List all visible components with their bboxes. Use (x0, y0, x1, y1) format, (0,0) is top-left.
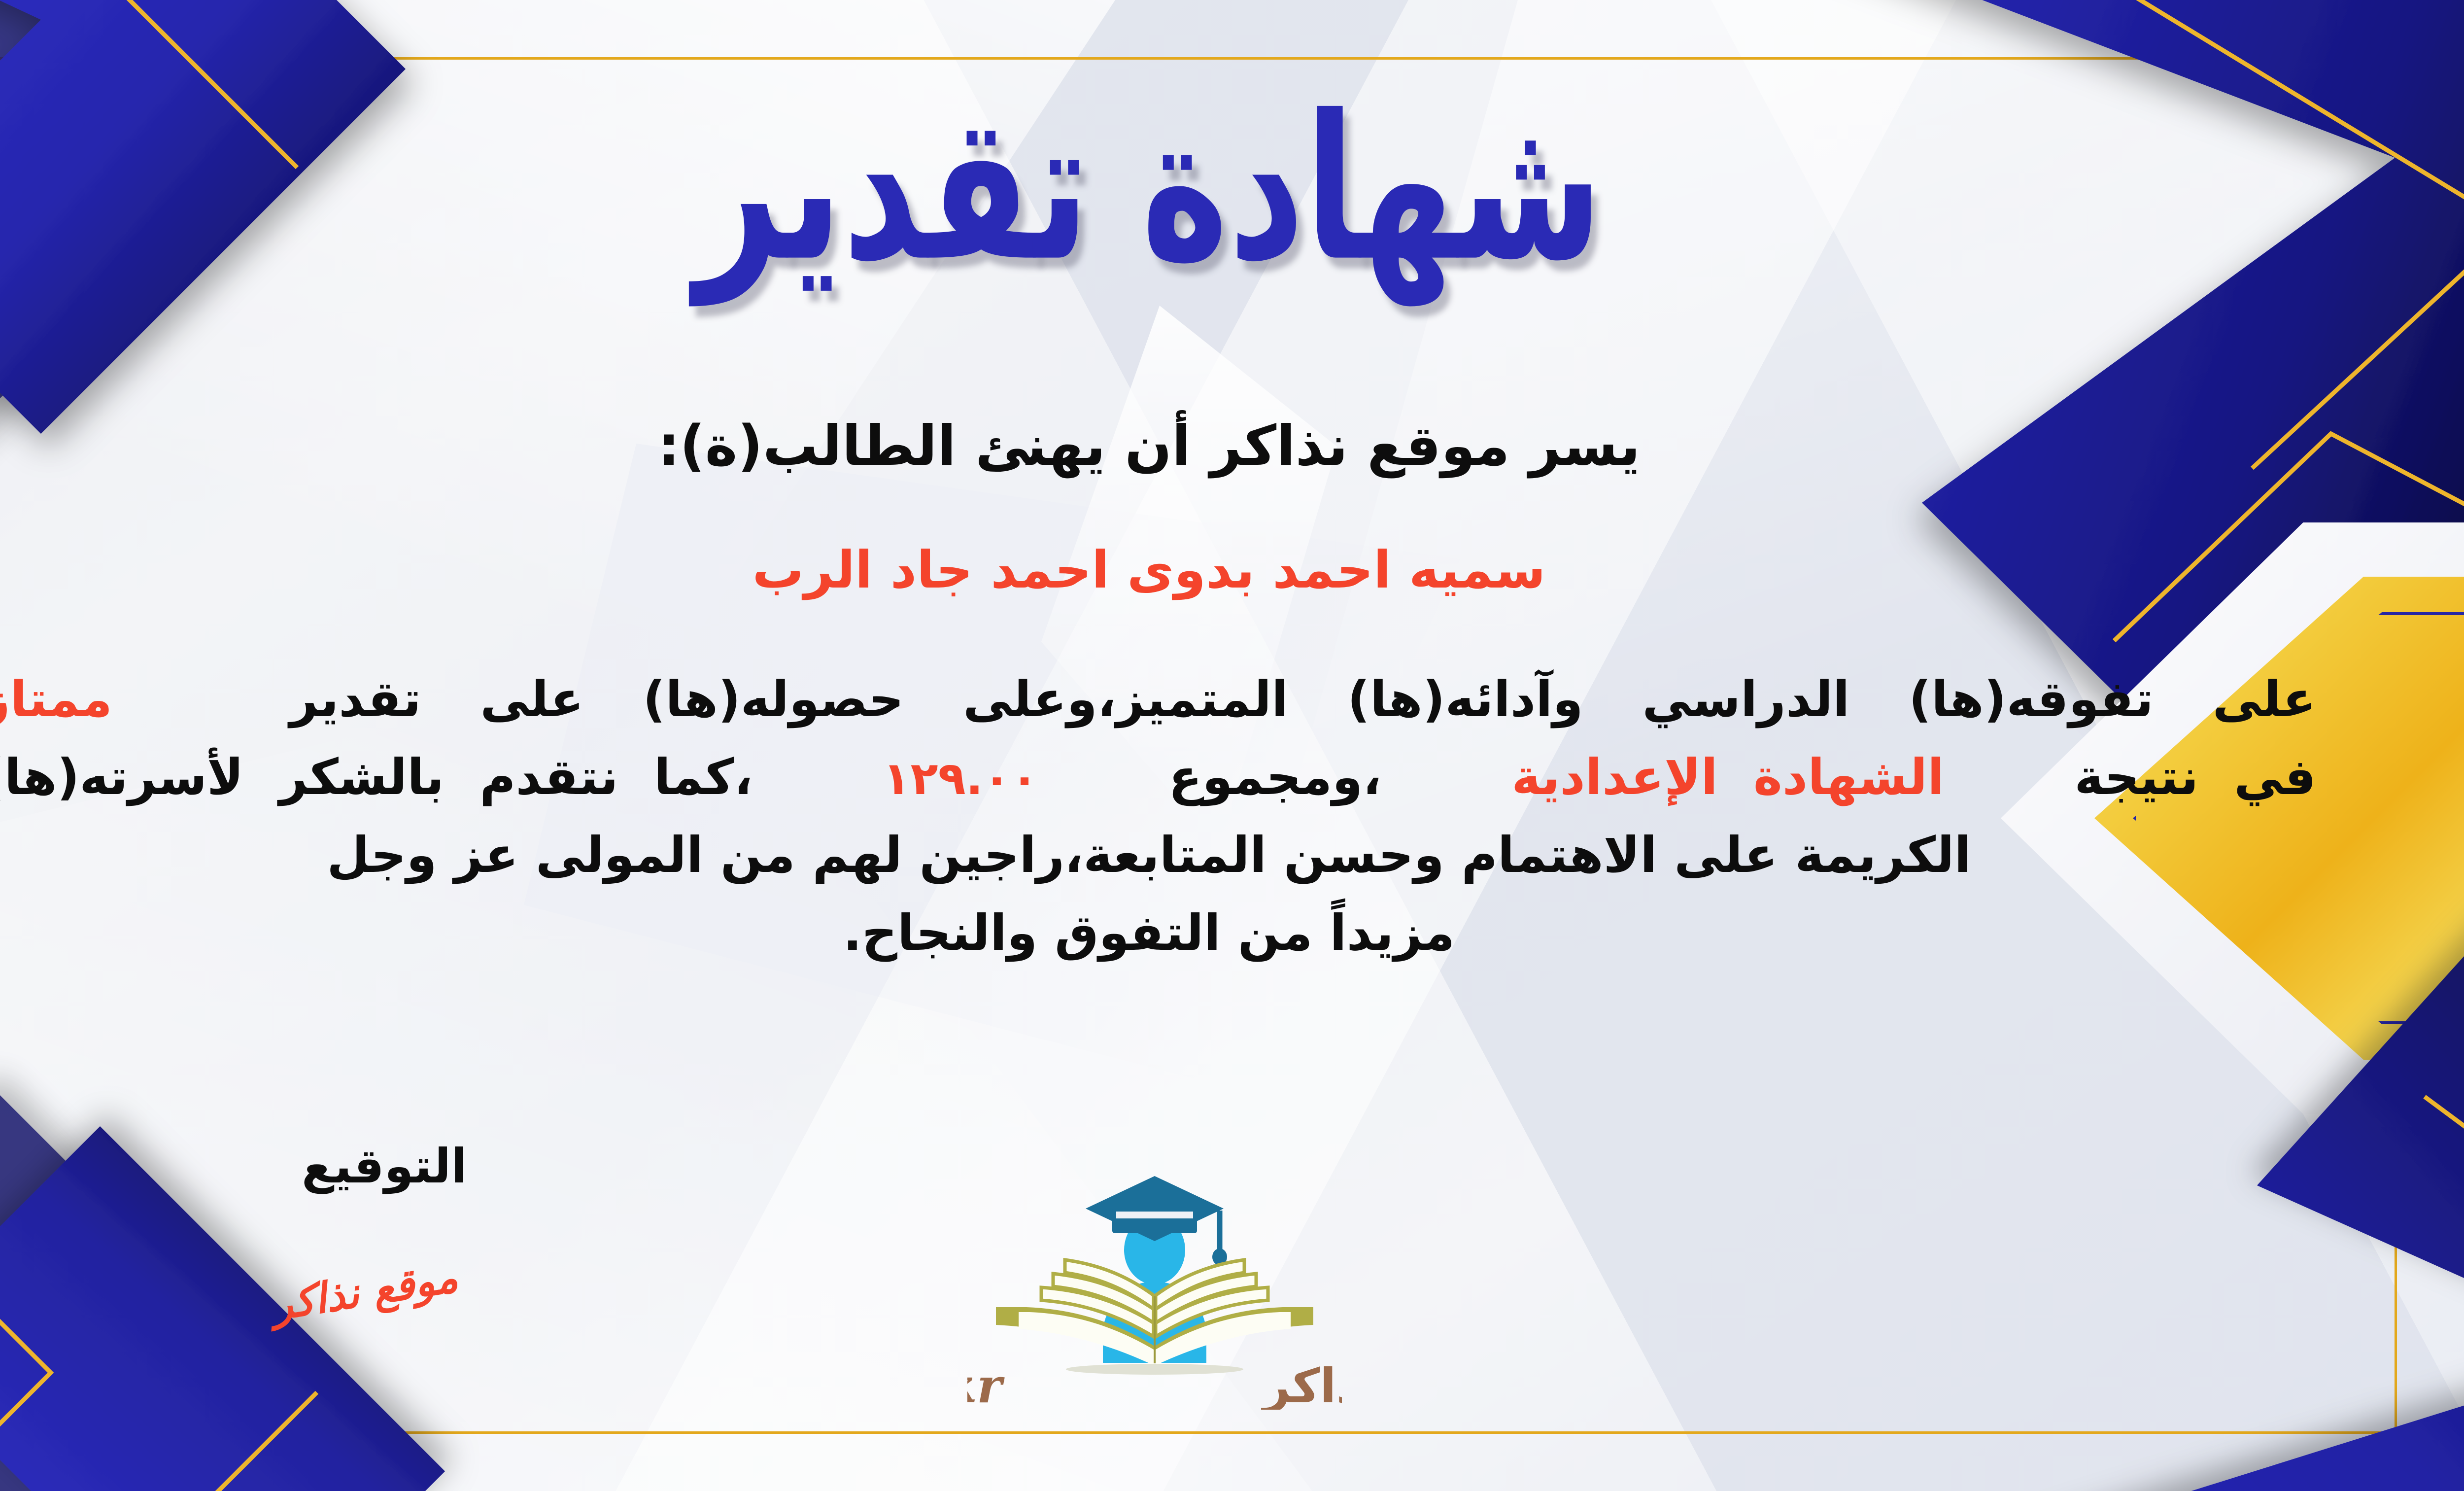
page-title: شهادة تقدير (0, 74, 2464, 304)
signature-mark: موقع نذاكر (225, 1246, 505, 1337)
body-line-1: على تفوقه(ها) الدراسي وآدائه(ها) المتميز… (0, 660, 2316, 738)
logo-arabic-text: نذاكر (1261, 1358, 1342, 1410)
logo-latin-text: Nezakr (967, 1358, 1005, 1410)
body-line-2-middle: ،ومجموع (1168, 748, 1381, 806)
body-line-2-prefix: في نتيجة (2074, 748, 2316, 806)
body-line-2-suffix: ،كما نتقدم بالشكر لأسرته(ها) (0, 748, 753, 806)
nezakr-logo: نذاكر Nezakr (967, 1134, 1342, 1410)
certificate-content: شهادة تقدير يسر موقع نذاكر أن يهنئ الطال… (0, 0, 2464, 1491)
body-line-3: الكريمة على الاهتمام وحسن المتابعة،راجين… (0, 816, 2316, 894)
student-name: سميه احمد بدوى احمد جاد الرب (0, 540, 2464, 600)
exam-name-value: الشهادة الإعدادية (1511, 748, 1944, 806)
signature-label: التوقيع (246, 1139, 522, 1194)
total-score-value: ١٢٩.٠٠ (883, 752, 1038, 805)
body-paragraph: على تفوقه(ها) الدراسي وآدائه(ها) المتميز… (0, 660, 2316, 972)
body-line-2: في نتيجة الشهادة الإعدادية ،ومجموع ١٢٩.٠… (0, 738, 2316, 816)
body-line-4: مزيداً من التفوق والنجاح. (0, 894, 2316, 972)
certificate-canvas: شهادة تقدير يسر موقع نذاكر أن يهنئ الطال… (0, 0, 2464, 1491)
body-line-1-text: على تفوقه(ها) الدراسي وآدائه(ها) المتميز… (290, 670, 2316, 728)
grade-value: ممتاز (0, 670, 112, 728)
greeting-line: يسر موقع نذاكر أن يهنئ الطالب(ة): (0, 414, 2464, 478)
